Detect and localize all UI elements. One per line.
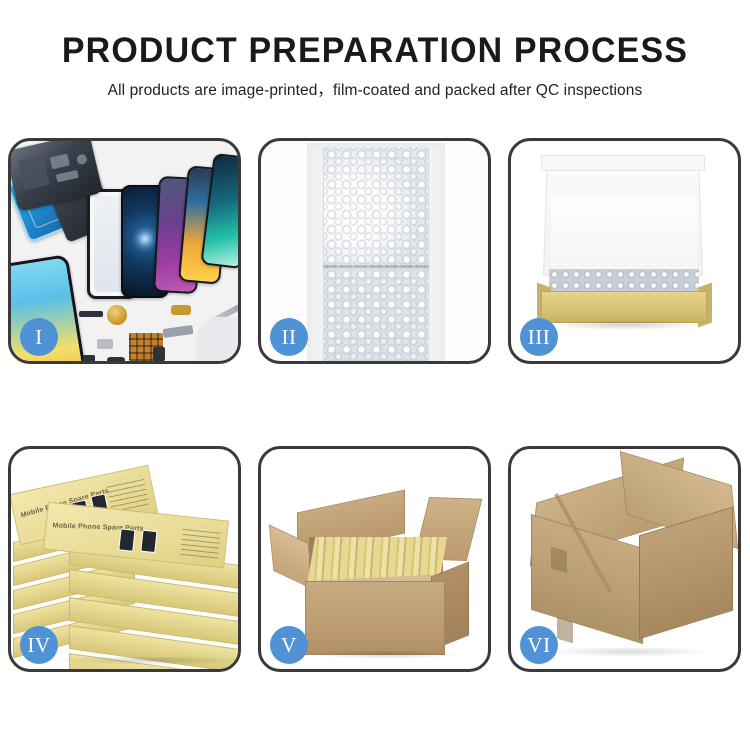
- battery-part: [18, 155, 50, 190]
- antenna-part: [79, 311, 103, 317]
- step-panel-6[interactable]: VI: [508, 446, 741, 672]
- step-badge-3: III: [520, 318, 558, 356]
- box-artwork-screen-3: [118, 528, 135, 551]
- box-lid-edge: [541, 155, 705, 171]
- page-subtitle: All products are image-printed，film-coat…: [0, 81, 750, 101]
- carton-handle-tab-top: [551, 547, 567, 574]
- flex-module-part: [56, 170, 79, 183]
- box-shadow: [547, 321, 703, 330]
- step-panel-1[interactable]: I: [8, 138, 241, 364]
- box-artwork-screen-4: [140, 530, 157, 553]
- step-badge-1: I: [20, 318, 58, 356]
- step-panel-4[interactable]: Mobile Phone Spare Parts Mobile Phone Sp…: [8, 446, 241, 672]
- step-panel-3[interactable]: III: [508, 138, 741, 364]
- bubble-wrap-bag: [323, 147, 429, 361]
- step-badge-4: IV: [20, 626, 58, 664]
- flex-cable-part: [163, 325, 194, 338]
- step-badge-6: VI: [520, 626, 558, 664]
- step-badge-2: II: [270, 318, 308, 356]
- box-spec-lines-back: [106, 475, 149, 512]
- page-title: PRODUCT PREPARATION PROCESS: [11, 30, 739, 72]
- speaker-part: [97, 339, 113, 349]
- carton-front-panel: [305, 581, 445, 655]
- steps-grid: I II: [8, 138, 742, 678]
- stack-shadow: [59, 657, 241, 665]
- hand-illustration: [196, 317, 241, 364]
- foam-liner: [551, 197, 697, 275]
- product-preparation-infographic: PRODUCT PREPARATION PROCESS All products…: [0, 0, 750, 750]
- bubble-pattern-secondary: [324, 147, 428, 361]
- box-spec-lines-front: [180, 525, 221, 559]
- header: PRODUCT PREPARATION PROCESS All products…: [0, 0, 750, 101]
- sim-tray-part: [83, 355, 95, 364]
- screw-plate-part: [153, 347, 165, 361]
- gold-connector-part: [171, 305, 191, 315]
- carton-handle-tab-bottom: [557, 617, 573, 644]
- lens-part: [76, 153, 88, 165]
- box-front-panel: [541, 291, 707, 323]
- step-badge-5: V: [270, 626, 308, 664]
- vibration-motor-part: [107, 305, 127, 325]
- camera-module-part: [50, 154, 70, 170]
- step-panel-2[interactable]: II: [258, 138, 491, 364]
- taptic-part: [107, 357, 125, 364]
- bubble-wrap-seam: [323, 265, 429, 268]
- carton-shadow: [313, 651, 459, 659]
- sealed-carton-shadow: [549, 648, 709, 657]
- step-panel-5[interactable]: V: [258, 446, 491, 672]
